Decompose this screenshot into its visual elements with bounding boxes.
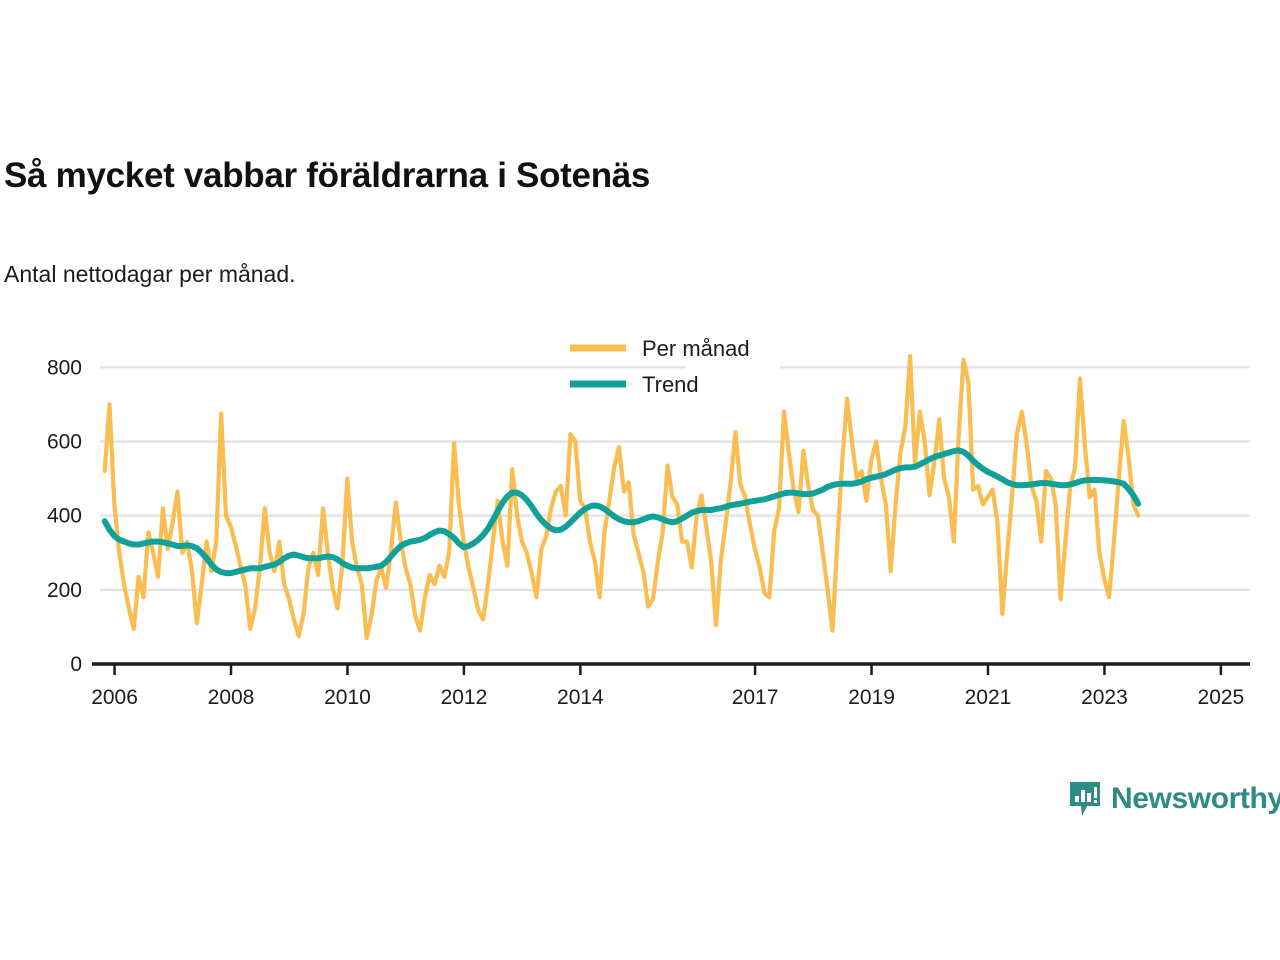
x-axis-tick-label: 2012: [441, 686, 488, 709]
series-line-monthly: [105, 356, 1139, 638]
bar-chart-pin-icon: [1068, 780, 1102, 818]
x-axis-tick-label: 2006: [91, 686, 138, 709]
brand-name: Newsworthy: [1111, 784, 1280, 814]
x-axis-labels: 2006200820102012201420172019202120232025: [91, 686, 1244, 709]
y-axis-tick-label: 600: [47, 430, 82, 453]
y-axis-tick-label: 0: [70, 653, 82, 676]
line-chart: 0200400600800 20062008201020122014201720…: [0, 300, 1280, 720]
x-axis-tick-label: 2019: [848, 686, 895, 709]
y-axis-labels: 0200400600800: [47, 356, 82, 676]
series-lines: [105, 356, 1139, 638]
x-axis-tick-label: 2017: [732, 686, 779, 709]
page-title: Så mycket vabbar föräldrarna i Sotenäs: [4, 156, 650, 196]
page-subtitle: Antal nettodagar per månad.: [4, 261, 296, 288]
x-axis-tick-label: 2014: [557, 686, 604, 709]
x-axis-tick-label: 2025: [1198, 686, 1245, 709]
axis: [92, 664, 1250, 675]
x-axis-tick-label: 2021: [965, 686, 1012, 709]
x-axis-tick-label: 2023: [1081, 686, 1128, 709]
legend-label: Per månad: [642, 336, 750, 361]
chart-page: Så mycket vabbar föräldrarna i Sotenäs A…: [0, 0, 1280, 960]
x-axis-tick-label: 2008: [208, 686, 255, 709]
y-axis-tick-label: 400: [47, 505, 82, 528]
y-axis-tick-label: 200: [47, 579, 82, 602]
y-axis-tick-label: 800: [47, 356, 82, 379]
chart-container: 0200400600800 20062008201020122014201720…: [0, 300, 1280, 720]
legend-label: Trend: [642, 372, 699, 397]
x-axis-tick-label: 2010: [324, 686, 371, 709]
newsworthy-logo: Newsworthy: [1068, 780, 1280, 818]
